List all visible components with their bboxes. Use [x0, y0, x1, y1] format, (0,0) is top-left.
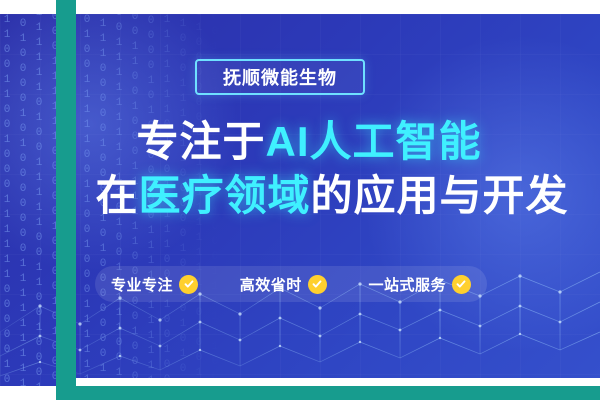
check-icon	[179, 275, 198, 294]
tagline-badge: 抚顺微能生物	[195, 59, 365, 95]
banner-canvas: 1100110010001111110000010000101000001000…	[0, 0, 600, 400]
headline-l2-part-1: 在	[95, 172, 138, 219]
white-gap	[76, 378, 600, 386]
particle-mesh-decoration	[0, 236, 600, 386]
headline-line-1: 专注于AI人工智能	[0, 118, 600, 166]
feature-item-1: 专业专注	[111, 274, 198, 295]
teal-left-bar	[56, 0, 76, 400]
feature-label-3: 一站式服务	[368, 274, 446, 295]
headline-line-2: 在医疗领域的应用与开发	[0, 172, 600, 220]
headline-l2-part-2: 医疗领域	[138, 172, 310, 219]
feature-item-2: 高效省时	[240, 274, 327, 295]
banner-background: 1100110010001111110000010000101000001000…	[0, 14, 600, 386]
feature-item-3: 一站式服务	[368, 274, 471, 295]
headline-l2-part-3: 的应用与开发	[311, 172, 569, 219]
headline-l1-part-2: AI人工智能	[266, 118, 482, 165]
headline-l1-part-1: 专注于	[136, 118, 265, 165]
feature-label-2: 高效省时	[240, 274, 302, 295]
feature-label-1: 专业专注	[111, 274, 173, 295]
check-icon	[452, 275, 471, 294]
check-icon	[308, 275, 327, 294]
tagline-text: 抚顺微能生物	[223, 64, 337, 90]
headline: 专注于AI人工智能 在医疗领域的应用与开发	[0, 118, 600, 220]
teal-bottom-bar	[56, 386, 600, 400]
feature-list: 专业专注 高效省时 一站式服务	[95, 266, 487, 302]
